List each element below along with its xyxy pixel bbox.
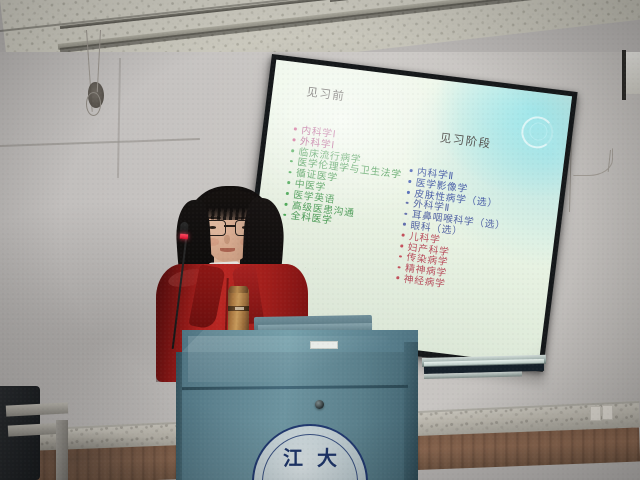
bullet-dot-icon — [397, 266, 400, 269]
bullet-dot-icon — [401, 234, 404, 237]
bullet-dot-icon — [407, 191, 410, 194]
wall-outlet-left[interactable] — [590, 406, 601, 421]
bullet-dot-icon — [399, 255, 402, 258]
bullet-dot-icon — [288, 171, 291, 174]
cable-coil — [86, 92, 101, 116]
bullet-dot-icon — [396, 276, 399, 279]
bullet-dot-icon — [404, 212, 407, 215]
slide-heading-left: 见习前 — [306, 84, 347, 105]
bullet-dot-icon — [294, 128, 297, 131]
bullet-dot-icon — [403, 223, 406, 226]
podium-id-label — [310, 341, 338, 349]
desk-post — [56, 420, 68, 480]
bullet-dot-icon — [291, 149, 294, 152]
microphone-led-indicator — [180, 234, 188, 239]
podium-highlight — [188, 336, 388, 382]
window-sliver — [626, 52, 640, 94]
eye-left — [209, 226, 216, 229]
bullet-dot-icon — [292, 138, 295, 141]
mouth — [220, 248, 235, 252]
lecture-hall-photo: 见习前 见习阶段 内科学Ⅰ 外科学Ⅰ 临床流行病学 医学伦理学与 — [0, 0, 640, 480]
nose — [224, 235, 230, 244]
window-frame — [622, 50, 626, 100]
bullet-dot-icon — [290, 160, 293, 163]
bullet-dot-icon — [409, 169, 412, 172]
slide-heading-right: 见习阶段 — [439, 129, 493, 151]
bullet-dot-icon — [408, 180, 411, 183]
slide-column-right: 内科学Ⅱ 医学影像学 皮肤性病学（选） 外科学Ⅱ 耳鼻咽喉科学（选） — [395, 167, 511, 297]
thermos-label — [235, 307, 244, 310]
podium-side-right — [404, 342, 418, 480]
thermos-cap[interactable] — [229, 286, 248, 293]
bullet-dot-icon — [405, 201, 408, 204]
glasses-bridge — [224, 225, 235, 227]
emblem-top-text: 江大 — [254, 442, 366, 471]
wall-outlet-right[interactable] — [602, 405, 613, 420]
bullet-dot-icon — [400, 244, 403, 247]
podium-lock-icon[interactable] — [315, 400, 324, 409]
bullet-dot-icon — [287, 181, 290, 184]
